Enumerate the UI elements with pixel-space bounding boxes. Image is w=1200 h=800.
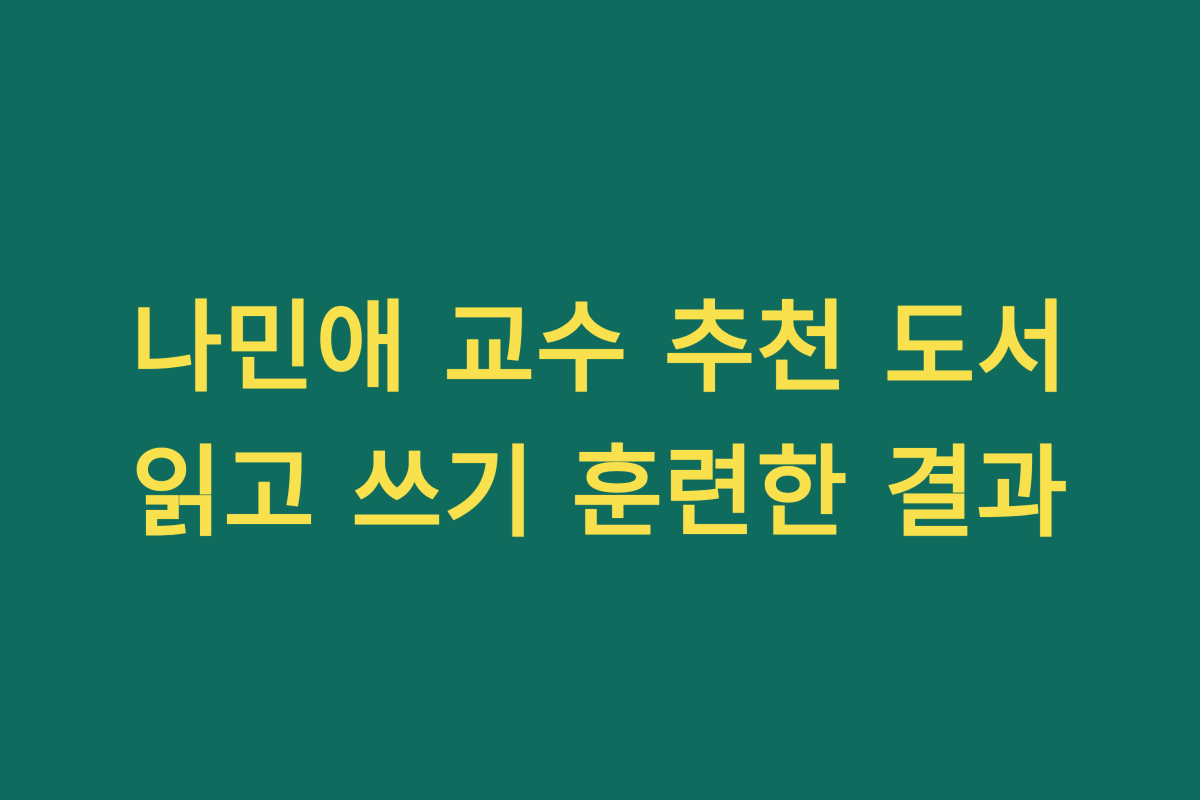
headline-line-2: 읽고 쓰기 훈련한 결과 [131,422,1068,567]
headline-line-1: 나민애 교수 추천 도서 [131,277,1068,422]
thumbnail-canvas: 나민애 교수 추천 도서 읽고 쓰기 훈련한 결과 [0,0,1200,800]
headline-block: 나민애 교수 추천 도서 읽고 쓰기 훈련한 결과 [0,0,1200,800]
